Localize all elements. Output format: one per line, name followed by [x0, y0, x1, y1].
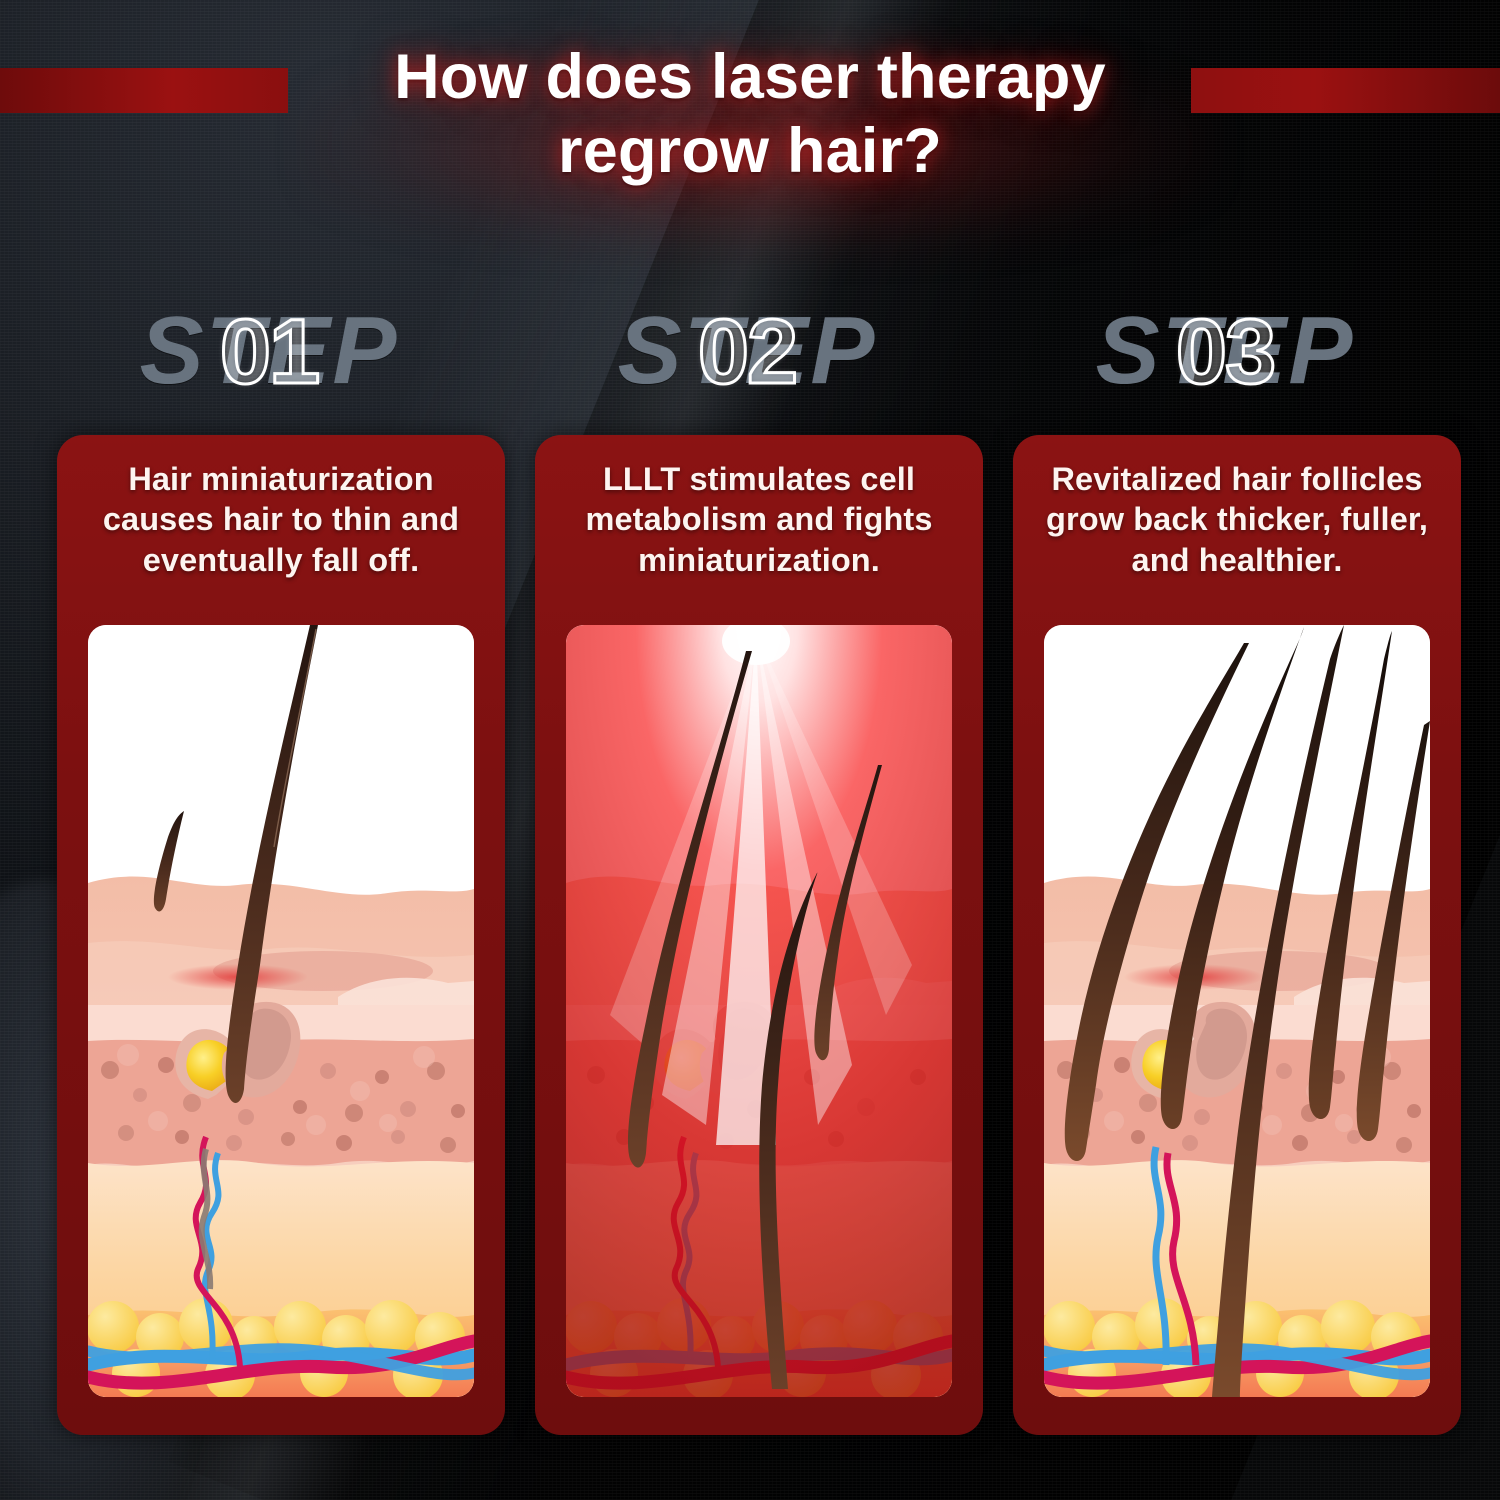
step-card-text-3: Revitalized hair follicles grow back thi…	[1031, 459, 1443, 580]
step-card-2[interactable]: LLLT stimulates cell metabolism and figh…	[535, 435, 983, 1435]
step-column-2: STEP 02 LLLT stimulates cell metabolism …	[512, 0, 982, 1500]
step-card-text-1: Hair miniaturization causes hair to thin…	[75, 459, 487, 580]
step-number-1: 01	[34, 292, 504, 412]
step-heading-1: STEP 01	[34, 292, 504, 410]
step-figure-3	[1044, 625, 1430, 1397]
step-heading-2: STEP 02	[512, 292, 982, 410]
regrown-hair-cross-section-illustration	[1044, 625, 1430, 1397]
skin-cross-section-illustration-1	[88, 625, 474, 1397]
step-column-3: STEP 03 Revitalized hair follicles grow …	[990, 0, 1460, 1500]
step-figure-2	[566, 625, 952, 1397]
step-card-3[interactable]: Revitalized hair follicles grow back thi…	[1013, 435, 1461, 1435]
step-card-text-2: LLLT stimulates cell metabolism and figh…	[553, 459, 965, 580]
step-number-2: 02	[512, 292, 982, 412]
step-figure-1	[88, 625, 474, 1397]
step-card-1[interactable]: Hair miniaturization causes hair to thin…	[57, 435, 505, 1435]
step-column-1: STEP 01 Hair miniaturization causes hair…	[34, 0, 504, 1500]
step-heading-3: STEP 03	[990, 292, 1460, 410]
step-number-3: 03	[990, 292, 1460, 412]
laser-skin-cross-section-illustration	[566, 625, 952, 1397]
